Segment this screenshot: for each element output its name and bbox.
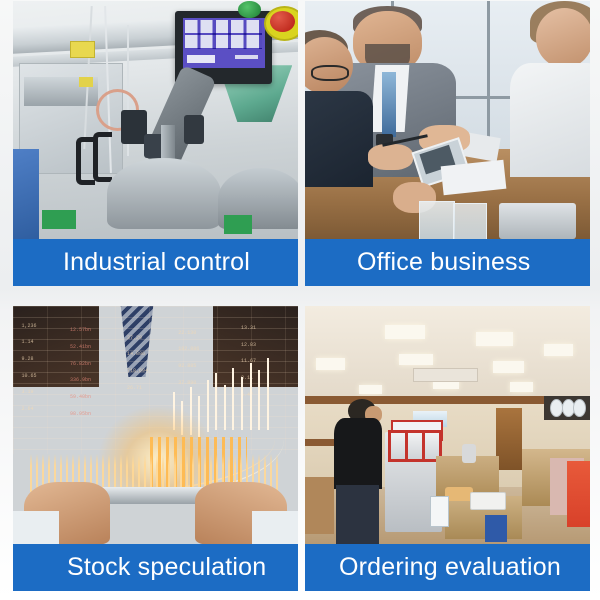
green-crate <box>42 210 76 229</box>
quote-value: 3.19 <box>22 389 34 395</box>
quote-value: 9.28 <box>22 356 34 362</box>
caption-industrial-control: Industrial control <box>13 239 298 286</box>
customer-jeans <box>336 485 379 545</box>
ceiling-light <box>544 344 573 356</box>
man-with-glasses-suit <box>305 91 373 186</box>
quote-value: 76.82bn <box>70 361 91 367</box>
dining-chair <box>305 477 334 534</box>
hmi-screen-grid <box>185 20 262 49</box>
caption-office-business: Office business <box>305 239 590 286</box>
quote-value: 11.67 <box>241 358 256 364</box>
scenario-card-industrial-control[interactable]: Industrial control <box>13 1 298 286</box>
ceiling-light <box>510 382 533 392</box>
rotary-bowl <box>107 158 221 229</box>
customer-black-shirt <box>334 418 382 489</box>
office-business-photo <box>305 1 590 239</box>
caption-stock-speculation: Stock speculation <box>13 544 298 591</box>
quote-value: 14.896 <box>127 351 145 357</box>
water-dispenser <box>462 444 476 463</box>
machine-module <box>184 115 204 144</box>
menu-poster <box>567 461 590 528</box>
quote-value: 37.890 <box>178 380 196 386</box>
scenario-card-stock-speculation[interactable]: 1,236 1.14 9.28 10.65 3.19 2.64 12.57bn … <box>13 306 298 591</box>
interior-door <box>496 408 522 470</box>
ceiling-light <box>385 325 425 339</box>
eyeglasses-icon <box>311 65 349 81</box>
quote-value: 718.694 <box>127 368 148 374</box>
woman-head <box>536 8 590 68</box>
quote-value: 1,236 <box>22 323 37 329</box>
yellow-warning-label <box>70 41 95 57</box>
water-glass <box>419 201 455 239</box>
ceiling-light <box>316 358 345 370</box>
ordering-evaluation-photo <box>305 306 590 544</box>
quote-value: 10.65 <box>22 373 37 379</box>
pointing-hand <box>368 144 414 170</box>
green-crate <box>224 215 253 234</box>
quote-value: 13.31 <box>241 325 256 331</box>
blue-floor-sign <box>485 515 508 541</box>
laptop <box>499 203 576 239</box>
quote-value: 92.885 <box>178 363 196 369</box>
caption-ordering-evaluation: Ordering evaluation <box>305 544 590 591</box>
serving-basket <box>470 492 506 511</box>
hmi-screen-button <box>187 55 216 63</box>
quote-value: 182.886 <box>178 346 199 352</box>
machine-module <box>121 110 147 143</box>
industrial-control-photo <box>13 1 298 239</box>
green-indicator-lamp <box>238 1 261 18</box>
ceiling-light <box>493 361 524 373</box>
quote-value: 37.29 <box>127 335 142 341</box>
black-clamp-bracket <box>93 132 112 182</box>
quote-value: 12.57bn <box>70 327 91 333</box>
window-mullion <box>487 1 490 149</box>
scenario-card-office-business[interactable]: Office business <box>305 1 590 286</box>
tabletop-sign <box>430 496 449 527</box>
ceiling-light <box>399 354 433 366</box>
quote-value: 26.71 <box>127 385 142 391</box>
scenario-grid: Industrial control <box>0 0 600 600</box>
businessman-tie <box>382 72 396 136</box>
operator-coverall <box>13 149 39 239</box>
yellow-warning-label <box>79 77 93 87</box>
scenario-grid-page: Industrial control <box>0 0 600 600</box>
woman-blouse <box>510 63 590 177</box>
quote-value: 22.130 <box>178 330 196 336</box>
shirt-cuff <box>252 511 298 544</box>
stock-speculation-photo: 1,236 1.14 9.28 10.65 3.19 2.64 12.57bn … <box>13 306 298 544</box>
hmi-screen-statusbar <box>235 55 258 60</box>
ceiling-light <box>476 332 513 346</box>
air-vent <box>413 368 478 382</box>
quote-value: 1.14 <box>22 339 34 345</box>
scenario-card-ordering-evaluation[interactable]: Ordering evaluation <box>305 306 590 591</box>
quote-value: 52.41bn <box>70 344 91 350</box>
quote-value: 59.40bn <box>70 394 91 400</box>
water-glass <box>453 203 486 239</box>
shirt-cuff <box>13 511 59 544</box>
quote-value: 12.83 <box>241 342 256 348</box>
ceiling-light <box>359 385 382 395</box>
quote-value: 336.9bn <box>70 377 91 383</box>
